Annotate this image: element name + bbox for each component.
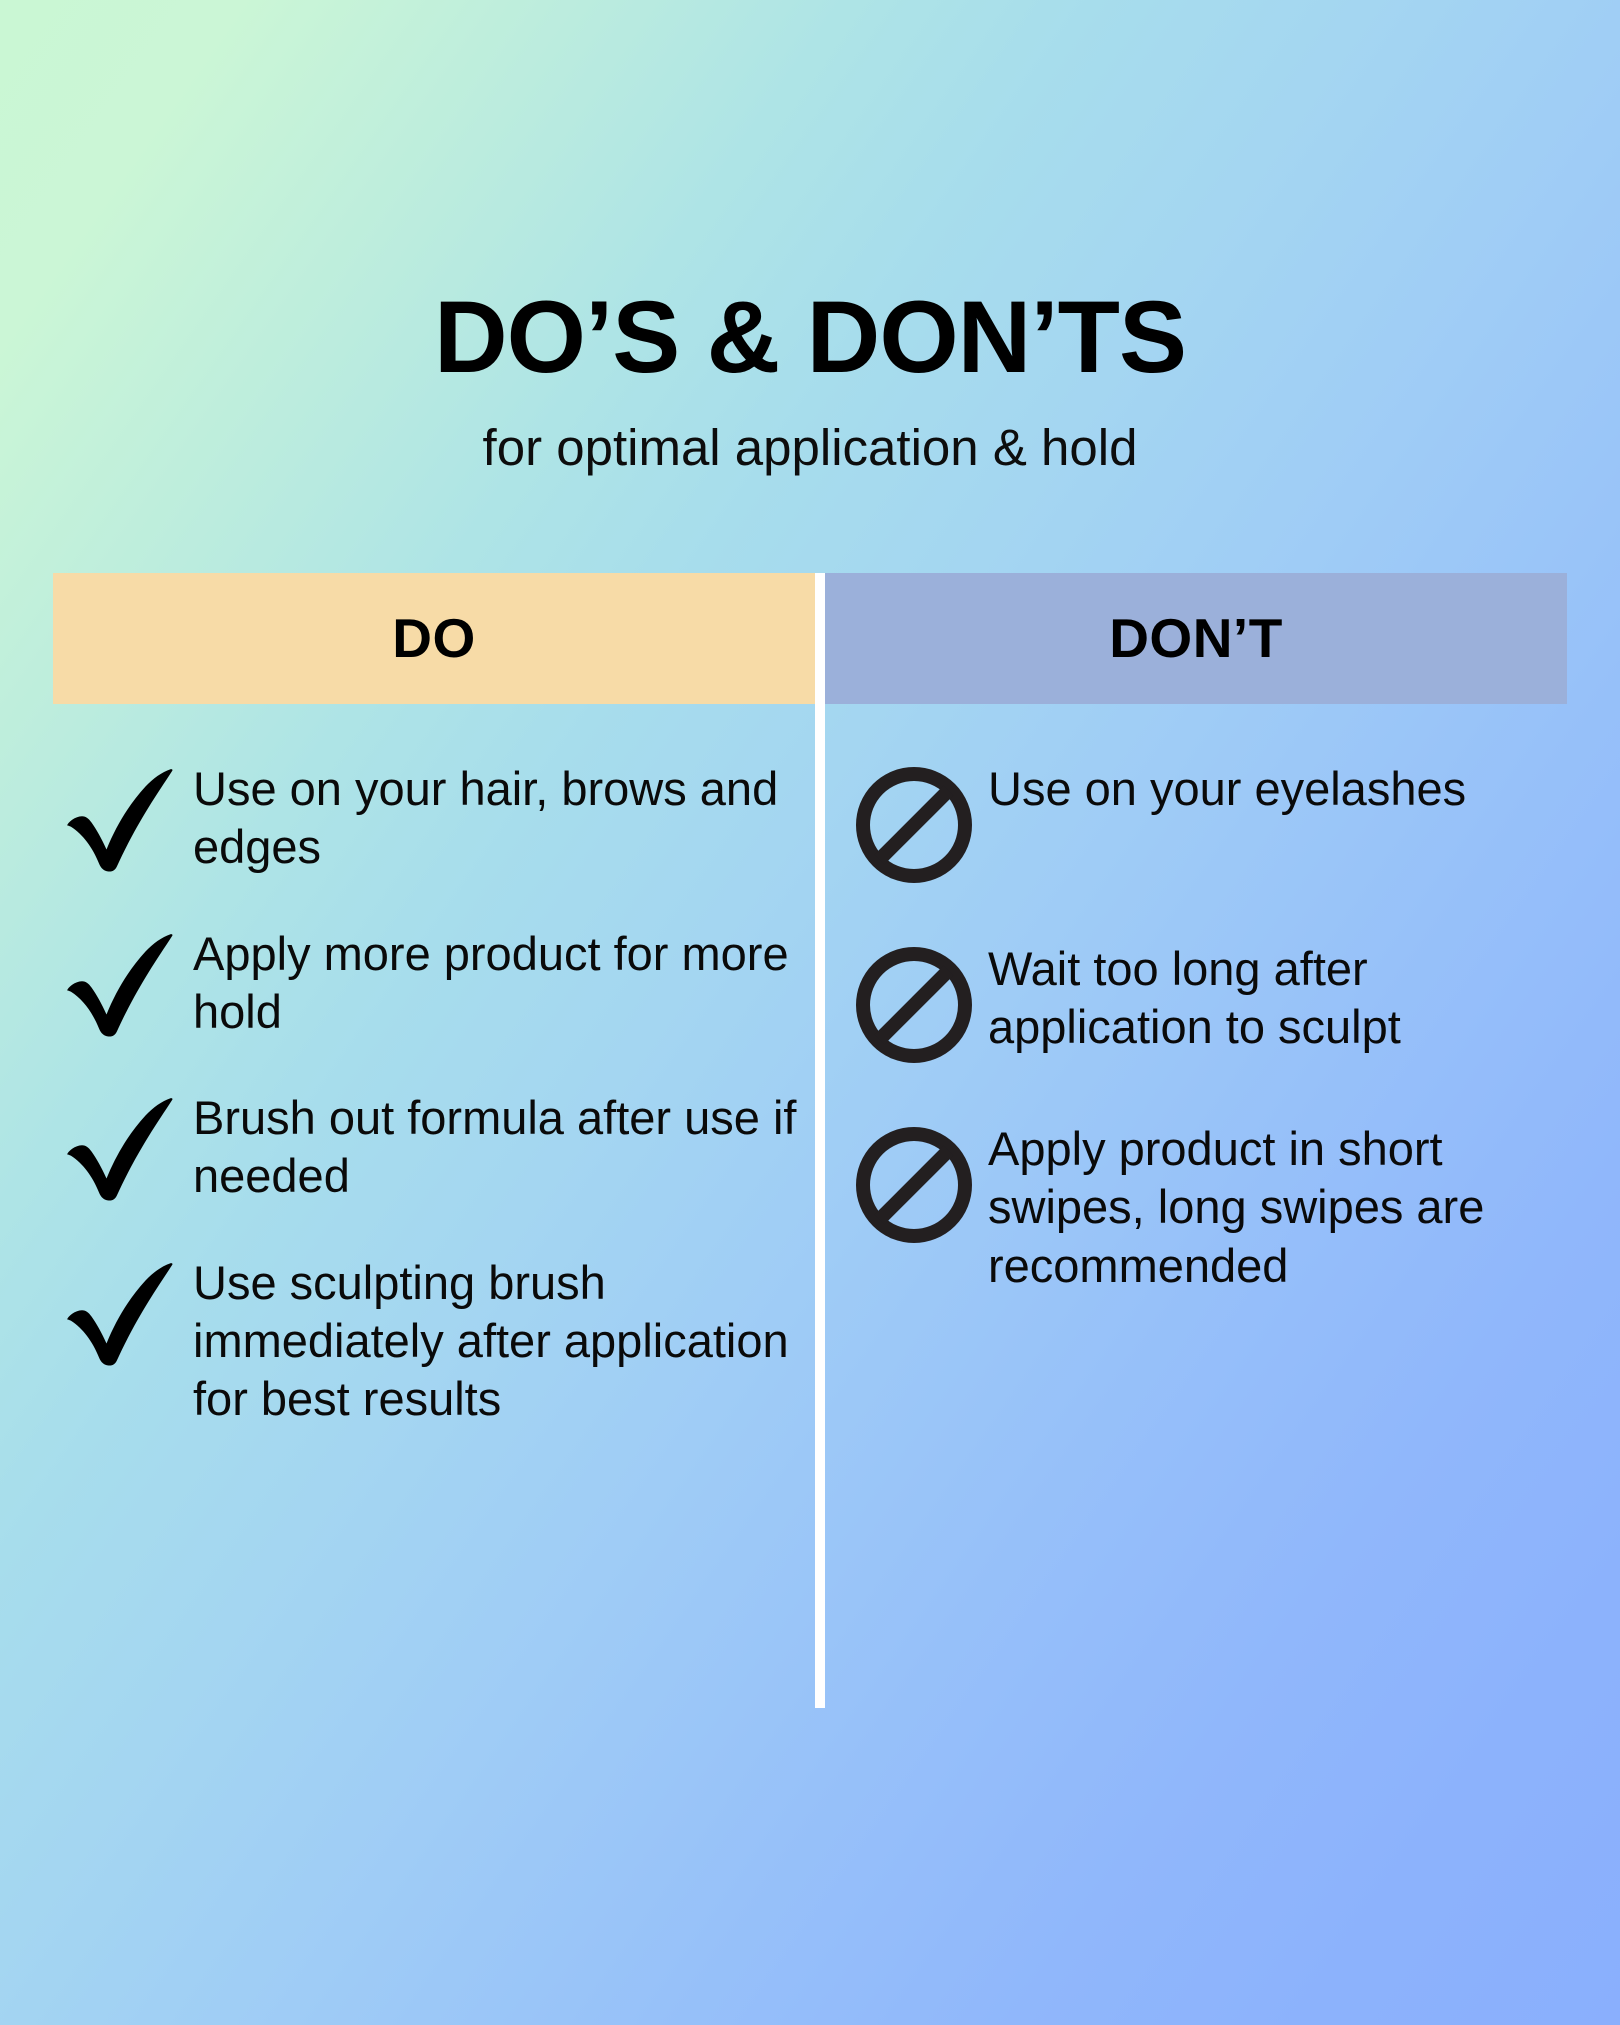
dont-item-text: Wait too long after application to sculp… (980, 940, 1568, 1057)
do-column-list: Use on your hair, brows and edges Apply … (53, 760, 803, 1428)
column-divider (815, 573, 825, 1708)
list-item: Apply more product for more hold (53, 925, 803, 1042)
list-item: Use on your hair, brows and edges (53, 760, 803, 877)
title-block: DO’S & DON’TS for optimal application & … (0, 286, 1620, 473)
poster-canvas: DO’S & DON’TS for optimal application & … (0, 0, 1620, 2025)
dont-item-text: Use on your eyelashes (980, 760, 1466, 818)
do-item-text: Brush out formula after use if needed (193, 1089, 803, 1206)
dont-header-label: DON’T (1109, 611, 1283, 666)
do-item-text: Use on your hair, brows and edges (193, 760, 803, 877)
checkmark-icon (53, 760, 193, 872)
do-item-text: Use sculpting brush immediately after ap… (193, 1254, 803, 1429)
prohibition-icon (848, 760, 980, 884)
dont-column-header: DON’T (825, 573, 1567, 704)
prohibition-icon (848, 940, 980, 1064)
checkmark-icon (53, 925, 193, 1037)
prohibition-icon (848, 1120, 980, 1244)
page-title: DO’S & DON’TS (0, 286, 1620, 388)
list-item: Apply product in short swipes, long swip… (848, 1120, 1568, 1295)
list-item: Wait too long after application to sculp… (848, 940, 1568, 1064)
do-header-label: DO (392, 611, 476, 666)
checkmark-icon (53, 1089, 193, 1201)
list-item: Use on your eyelashes (848, 760, 1568, 884)
list-item: Use sculpting brush immediately after ap… (53, 1254, 803, 1429)
page-subtitle: for optimal application & hold (0, 388, 1620, 473)
dont-item-text: Apply product in short swipes, long swip… (980, 1120, 1568, 1295)
do-item-text: Apply more product for more hold (193, 925, 803, 1042)
do-column-header: DO (53, 573, 815, 704)
dont-column-list: Use on your eyelashes Wait too long afte… (848, 760, 1568, 1295)
list-item: Brush out formula after use if needed (53, 1089, 803, 1206)
checkmark-icon (53, 1254, 193, 1366)
